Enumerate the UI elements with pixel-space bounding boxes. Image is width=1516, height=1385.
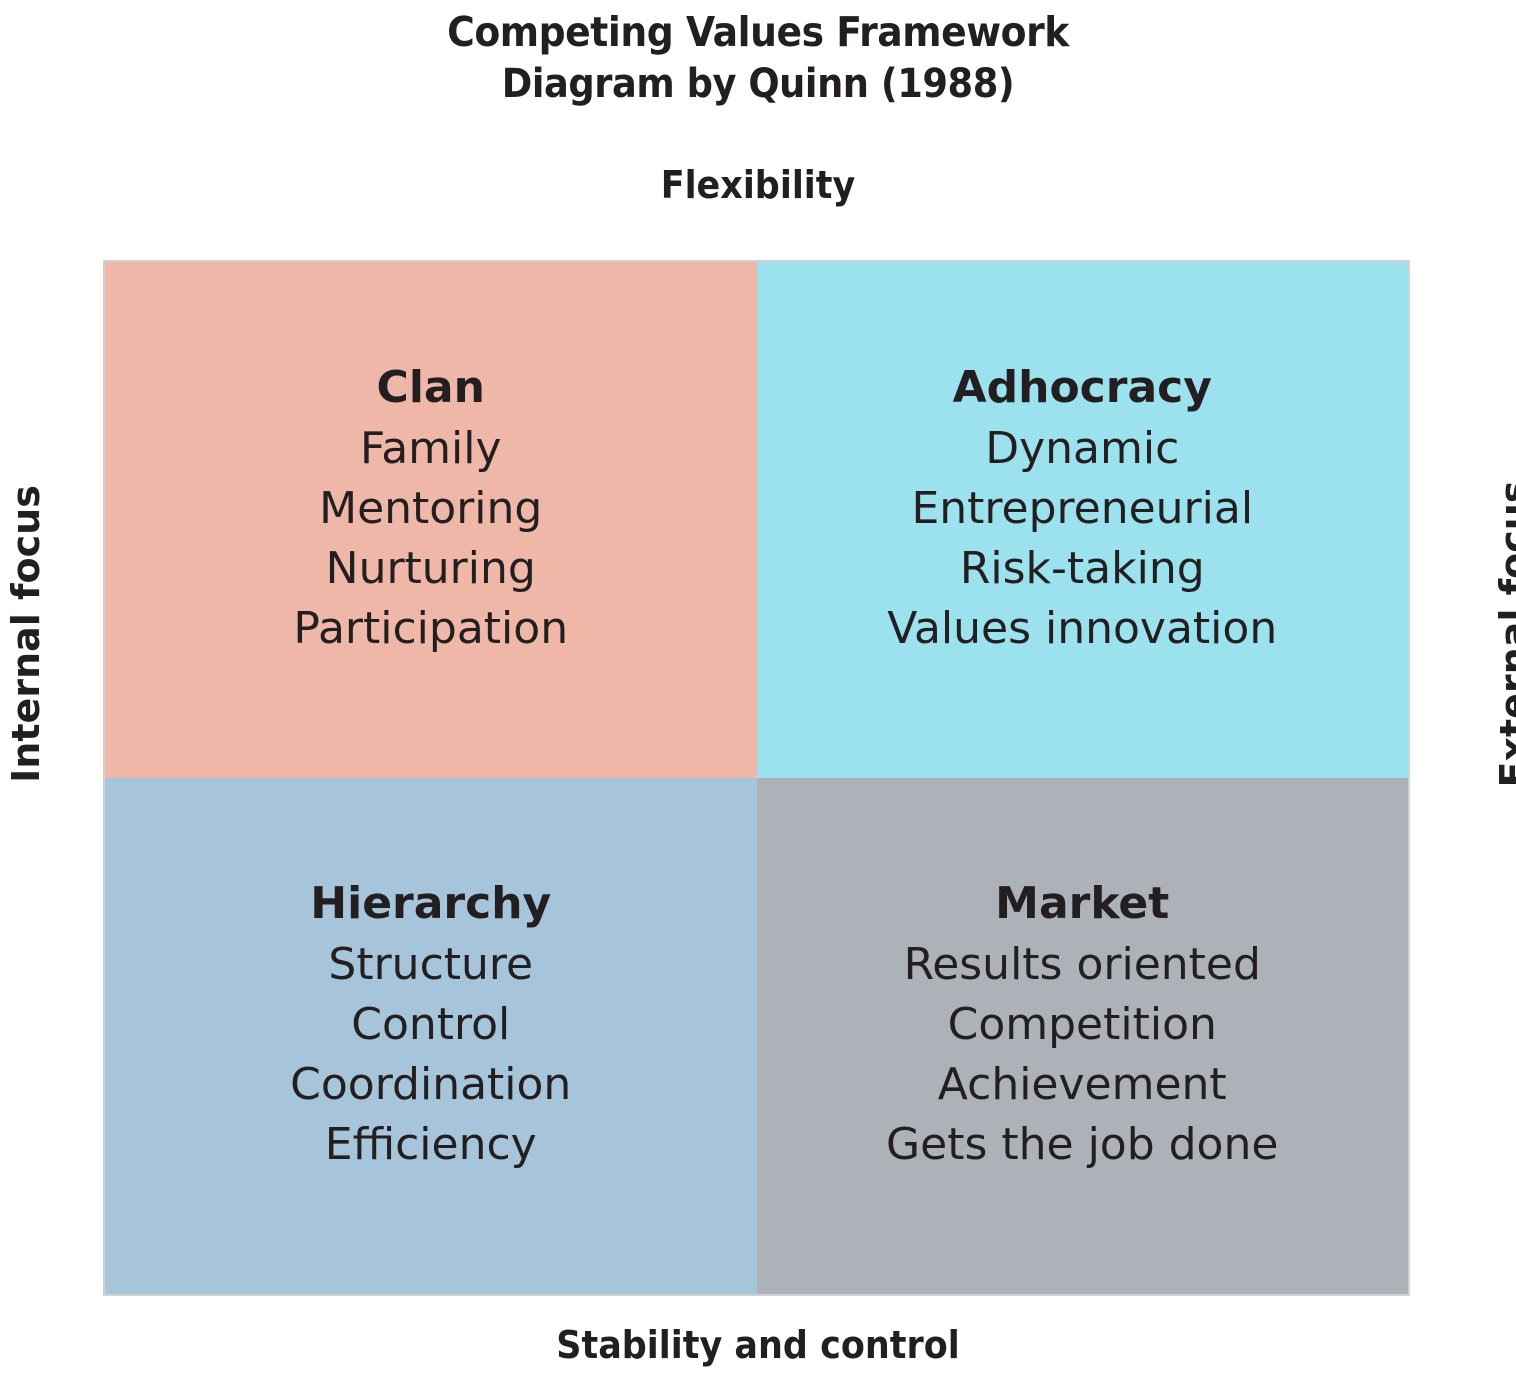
quadrant-item: Mentoring [319, 479, 542, 539]
quadrant-item: Family [360, 419, 502, 479]
quadrant-item: Dynamic [985, 419, 1179, 479]
quadrant-clan: Clan Family Mentoring Nurturing Particip… [105, 262, 757, 778]
quadrant-adhocracy: Adhocracy Dynamic Entrepreneurial Risk-t… [757, 262, 1409, 778]
quadrant-item: Nurturing [326, 539, 536, 599]
quadrant-title-adhocracy: Adhocracy [953, 358, 1212, 418]
quadrant-item: Entrepreneurial [911, 479, 1253, 539]
quadrant-item: Control [351, 995, 510, 1055]
competing-values-framework-figure: Competing Values Framework Diagram by Qu… [0, 0, 1516, 1385]
axis-label-top-flexibility: Flexibility [61, 162, 1456, 208]
quadrant-title-market: Market [995, 874, 1169, 934]
quadrant-matrix: Clan Family Mentoring Nurturing Particip… [105, 262, 1408, 1294]
quadrant-hierarchy: Hierarchy Structure Control Coordination… [105, 778, 757, 1294]
title-line-2: Diagram by Quinn (1988) [61, 58, 1456, 110]
quadrant-item: Efficiency [325, 1115, 537, 1175]
quadrant-title-clan: Clan [377, 358, 485, 418]
title-line-1: Competing Values Framework [61, 6, 1456, 58]
quadrant-item: Structure [328, 935, 533, 995]
quadrant-market: Market Results oriented Competition Achi… [757, 778, 1409, 1294]
quadrant-item: Gets the job done [886, 1115, 1278, 1175]
axis-label-bottom-stability-and-control: Stability and control [61, 1322, 1456, 1368]
quadrant-title-hierarchy: Hierarchy [310, 874, 551, 934]
quadrant-item: Competition [948, 995, 1217, 1055]
quadrant-item: Results oriented [904, 935, 1261, 995]
axis-label-right-external-focus: External focus [1492, 454, 1516, 814]
axis-label-left-internal-focus: Internal focus [4, 454, 48, 814]
quadrant-item: Coordination [290, 1055, 571, 1115]
quadrant-item: Values innovation [887, 599, 1277, 659]
figure-title: Competing Values Framework Diagram by Qu… [0, 6, 1516, 110]
quadrant-item: Participation [293, 599, 568, 659]
quadrant-item: Achievement [938, 1055, 1227, 1115]
quadrant-item: Risk-taking [960, 539, 1205, 599]
